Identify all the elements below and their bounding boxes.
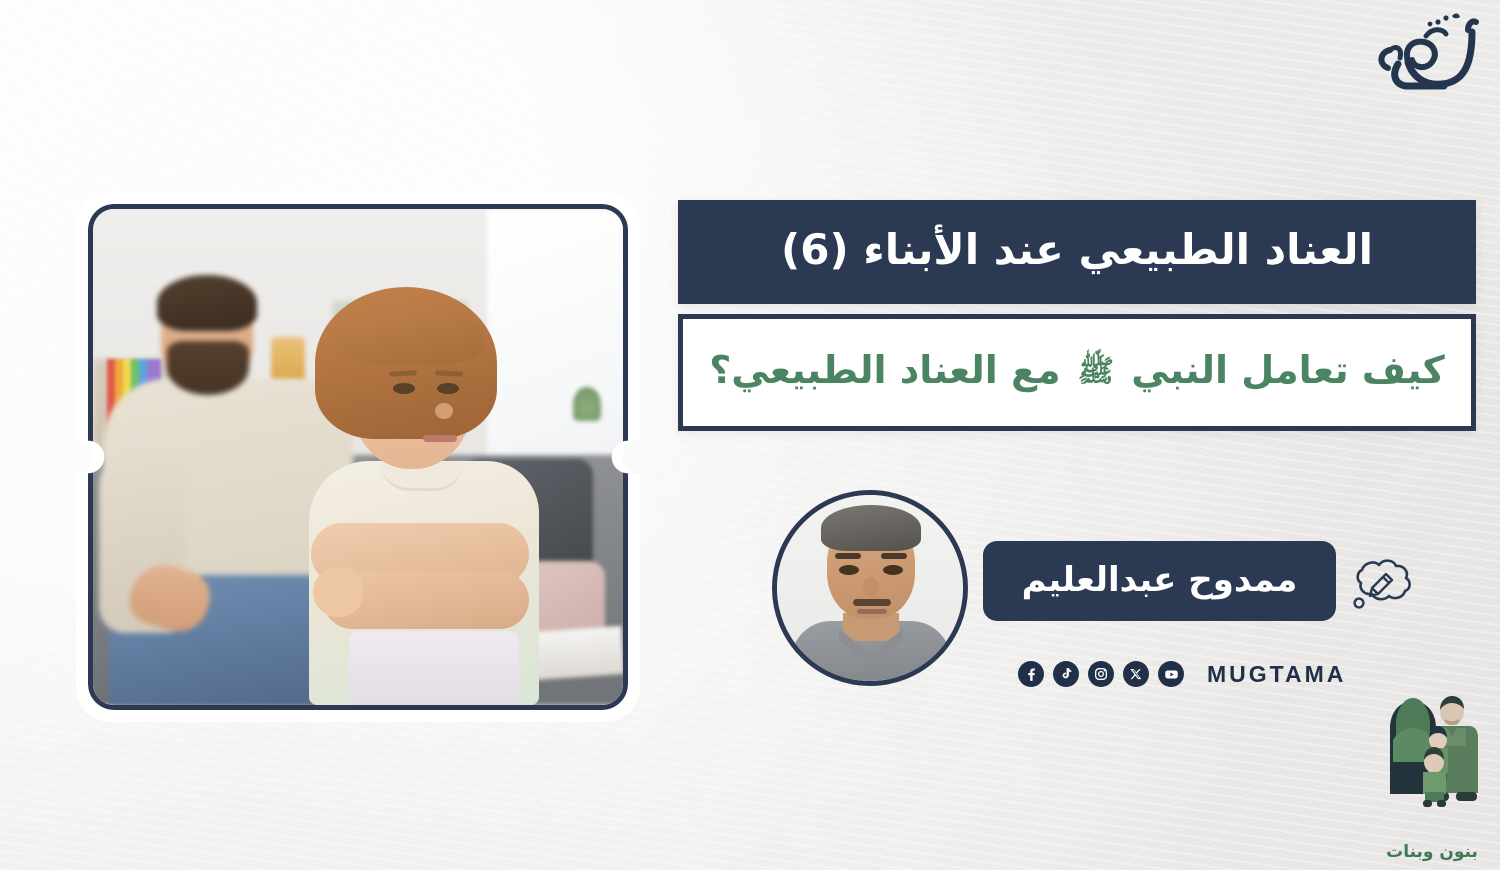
- photo-child: [289, 285, 589, 705]
- author-name-plate: ممدوح عبدالعليم: [983, 541, 1336, 621]
- family-badge-caption: بنون وبنات: [1372, 842, 1492, 862]
- article-photo: [88, 204, 628, 710]
- thought-bubble-pencil-icon: [1342, 556, 1414, 620]
- page-title: العناد الطبيعي عند الأبناء (6): [678, 200, 1476, 304]
- instagram-icon[interactable]: [1088, 661, 1114, 687]
- x-icon[interactable]: [1123, 661, 1149, 687]
- avatar: [772, 490, 968, 686]
- social-handle: MUGTAMA: [1207, 661, 1346, 688]
- family-badge[interactable]: بنون وبنات: [1372, 688, 1492, 864]
- photo-scene: [93, 209, 623, 705]
- mugtama-calligraphy-logo[interactable]: [1368, 6, 1486, 102]
- pbuh-honorific-icon: ﷺ: [1078, 356, 1114, 388]
- family-illustration: [1376, 688, 1488, 828]
- subtitle-box: كيف تعامل النبي ﷺ مع العناد الطبيعي؟: [678, 314, 1476, 431]
- youtube-icon[interactable]: [1158, 661, 1184, 687]
- social-links: MUGTAMA: [1018, 659, 1346, 689]
- author-name-text: ممدوح عبدالعليم: [1022, 560, 1298, 603]
- subtitle-after: مع العناد الطبيعي؟: [709, 348, 1060, 392]
- poster-canvas: العناد الطبيعي عند الأبناء (6) كيف تعامل…: [0, 0, 1500, 870]
- tiktok-icon[interactable]: [1053, 661, 1079, 687]
- subtitle-before: كيف تعامل النبي: [1131, 348, 1445, 392]
- facebook-icon[interactable]: [1018, 661, 1044, 687]
- page-title-text: العناد الطبيعي عند الأبناء (6): [781, 228, 1373, 276]
- subtitle-text: كيف تعامل النبي ﷺ مع العناد الطبيعي؟: [709, 351, 1445, 395]
- article-photo-frame: [76, 192, 640, 722]
